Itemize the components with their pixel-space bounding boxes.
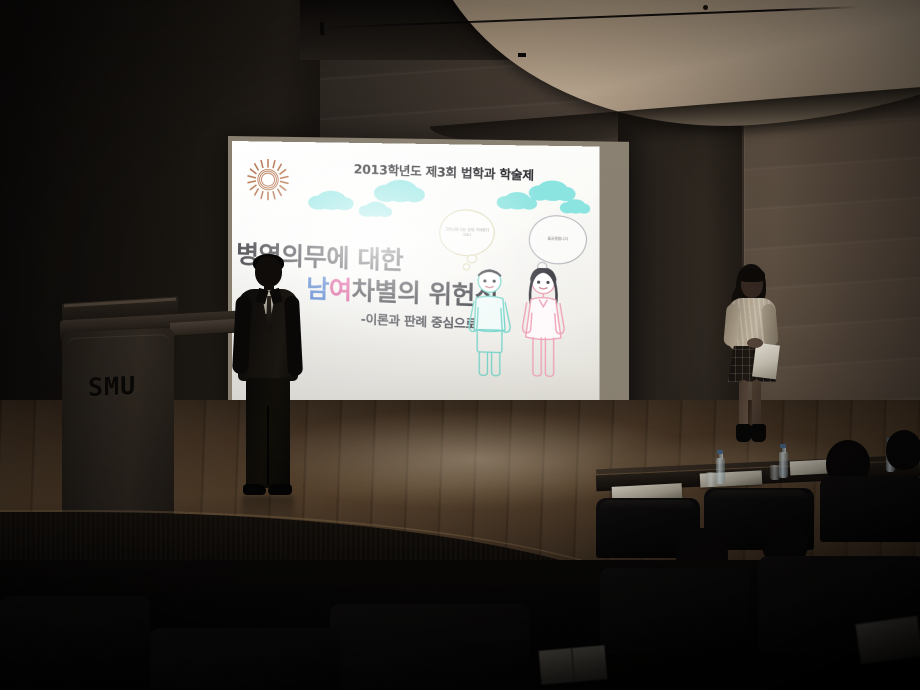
slide-title-male-char: 남 [306,274,329,304]
female-stick-figure-icon [523,268,564,377]
thought-bubble-left-tail-dot [467,254,477,263]
sun-rays-icon [246,157,290,202]
slide-figures-group [463,266,575,383]
presenter-shoe-left [243,484,266,495]
audience-member-head [886,430,920,470]
male-stick-figure-icon [469,269,510,376]
moderator-figure [718,262,784,450]
presenter-trouser-seam [267,406,269,486]
audience-seat [600,568,750,654]
cloud-decoration [365,201,387,217]
thought-bubble-left: 그러니까 나는 군대 가야한다 고요? [439,209,494,257]
moderator-boot-left [736,424,751,442]
audience-seat [330,604,530,690]
thought-bubble-right-text: 불공평합니다 [530,216,586,264]
audience-seat [0,596,150,690]
water-bottle-cap [717,450,723,454]
audience-seat [150,628,340,690]
water-bottle-cap [780,444,786,448]
cloud-decoration [504,192,531,210]
moderator-arm-right [761,303,779,346]
cloud-decoration [316,191,346,211]
slide-title-female-char: 여 [329,275,352,305]
thought-bubble-right: 불공평합니다 [529,215,587,265]
moderator-leg-left [739,380,748,428]
moderator-papers [752,343,780,380]
presenter-arm-right [284,296,303,377]
presenter-head [255,256,282,287]
drinking-glass [706,472,716,487]
audience-seat [820,476,920,542]
slide-subtitle: -이론과 판례 중심으로 [361,308,478,332]
thought-bubble-left-text: 그러니까 나는 군대 가야한다 고요? [440,210,493,256]
audience-open-book-right [856,616,920,664]
podium [62,328,174,528]
water-bottle [779,452,788,478]
audience-seat-highlight [600,500,696,514]
moderator-hair-front [739,268,765,282]
cloud-decoration [565,199,586,214]
moderator-leg-right [752,380,761,428]
presenter-shoe-right [268,484,292,495]
auditorium-photo: 2013학년도 제3회 법학과 학술제 그러니까 나는 군대 가야한다 고요? … [0,0,920,690]
cloud-decoration [383,180,418,203]
ceiling-bracket [320,22,325,35]
podium-smu-logo: SMU [88,371,136,402]
presenter-figure [226,256,302,502]
moderator-hands [747,338,763,348]
cloud-decoration [537,180,568,201]
ceiling-fixture-dot [703,5,708,10]
audience-seat-highlight [708,490,808,504]
ceiling-bracket-secondary [518,53,526,57]
slide-header-title: 2013학년도 제3회 법학과 학술제 [336,159,551,185]
moderator-boot-right [751,424,766,442]
water-bottle [716,458,725,484]
